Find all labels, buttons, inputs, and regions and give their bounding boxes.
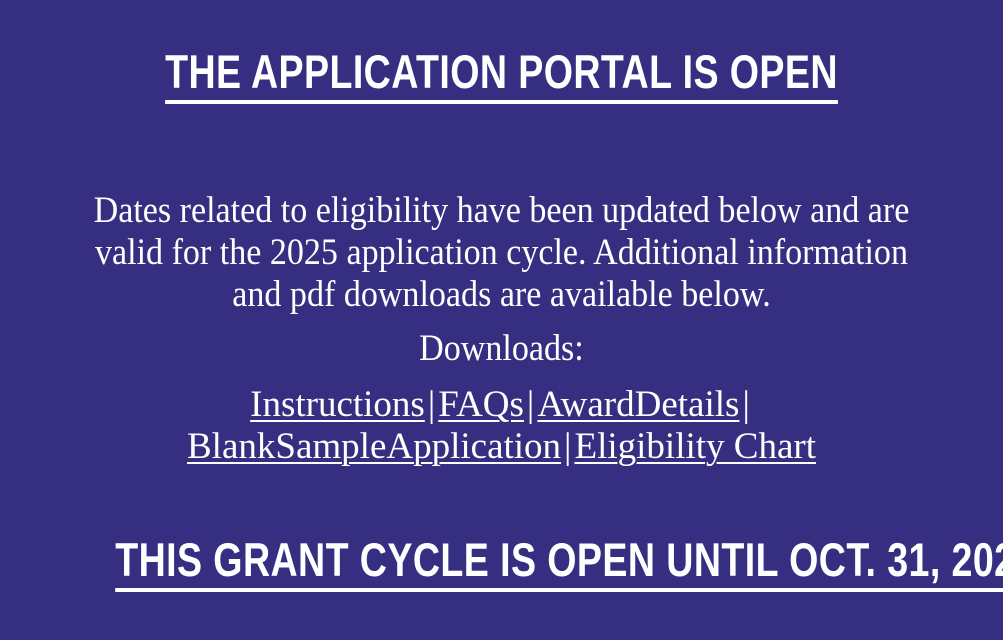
link-separator-3: | (739, 384, 752, 426)
page-title-text: THE APPLICATION PORTAL IS OPEN (165, 48, 838, 104)
page-title-portal-open: THE APPLICATION PORTAL IS OPEN (0, 48, 1003, 104)
grant-cycle-deadline-text: THIS GRANT CYCLE IS OPEN UNTIL OCT. 31, … (115, 536, 1003, 592)
link-separator-1: | (425, 384, 438, 426)
download-link-blank-sample-application[interactable]: BlankSampleApplication (187, 426, 561, 467)
intro-paragraph: Dates related to eligibility have been u… (0, 190, 1003, 316)
download-link-award-details[interactable]: AwardDetails (537, 384, 739, 425)
link-separator-2: | (524, 384, 537, 426)
download-link-faqs[interactable]: FAQs (438, 384, 524, 425)
downloads-links-list: Instructions|FAQs|AwardDetails|BlankSamp… (0, 384, 1003, 468)
link-separator-4: | (561, 426, 574, 468)
intro-paragraph-text: Dates related to eligibility have been u… (93, 190, 909, 316)
download-link-instructions[interactable]: Instructions (250, 384, 425, 425)
downloads-label: Downloads: (0, 328, 1003, 370)
notice-panel: THE APPLICATION PORTAL IS OPEN Dates rel… (0, 0, 1003, 640)
downloads-label-text: Downloads: (419, 328, 584, 370)
download-link-eligibility-chart[interactable]: Eligibility Chart (574, 426, 816, 467)
grant-cycle-deadline-heading: THIS GRANT CYCLE IS OPEN UNTIL OCT. 31, … (0, 536, 1003, 592)
